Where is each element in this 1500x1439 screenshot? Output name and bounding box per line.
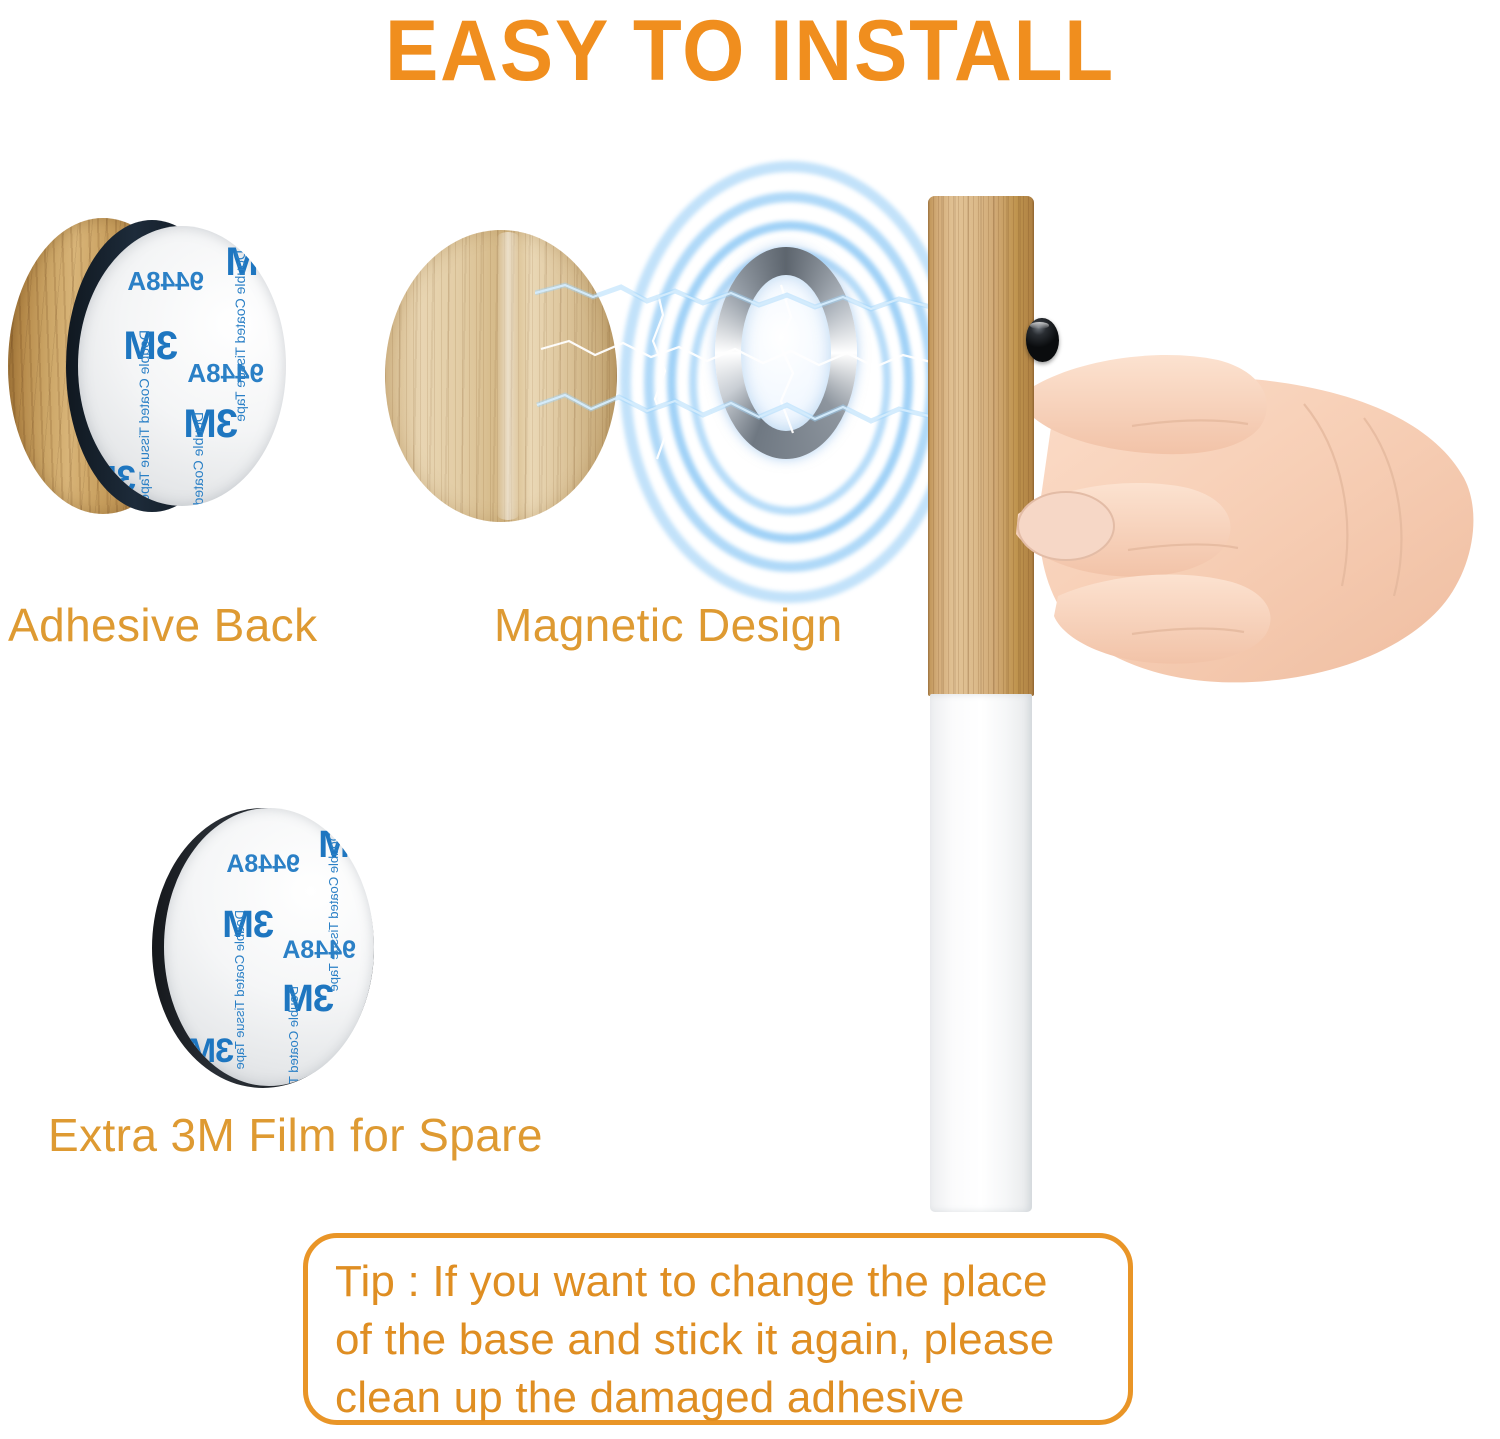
tip-line-3: clean up the damaged adhesive <box>335 1369 1125 1427</box>
tape-description-text: Double Coated Tissue Tape <box>190 412 206 506</box>
adhesive-liner-face: 3M Double Coated Tissue Tape 9448A 3M Do… <box>78 226 286 506</box>
feature-label-adhesive-back: Adhesive Back <box>8 598 317 652</box>
tape-code-text: 9448A <box>282 936 356 965</box>
page-title: EASY TO INSTALL <box>53 0 1448 104</box>
feature-label-extra-3m-film: Extra 3M Film for Spare <box>48 1108 543 1162</box>
feature-label-magnetic-design: Magnetic Design <box>494 598 843 652</box>
lamp-body <box>930 694 1032 1212</box>
3m-logo-text: 3M <box>88 458 136 500</box>
tape-description-text: Double Coated Tissue Tape <box>232 910 247 1069</box>
thumb-nail <box>1018 492 1114 560</box>
middle-finger <box>1054 574 1271 663</box>
tape-description-text: Double Coated Tissue Tape <box>326 832 341 991</box>
tip-line-2: of the base and stick it again, please <box>335 1311 1125 1369</box>
3m-liner-print: 3M Double Coated Tissue Tape 9448A 3M Do… <box>78 226 286 506</box>
tip-text: Tip : If you want to change the place of… <box>335 1253 1125 1427</box>
lightning-filaments <box>535 245 955 505</box>
adhesive-liner-face: 3M Double Coated Tissue Tape 9448A 3M Do… <box>164 808 374 1086</box>
3m-logo-text: 3M <box>189 1032 234 1071</box>
magnetic-design-illustration <box>385 185 945 575</box>
spare-3m-film-disc: 3M Double Coated Tissue Tape 9448A 3M Do… <box>152 808 374 1088</box>
tape-code-text: 9448A <box>187 358 264 389</box>
adhesive-back-disc: 3M Double Coated Tissue Tape 9448A 3M Do… <box>8 218 286 514</box>
hand-holding-light <box>1012 300 1482 700</box>
tape-description-text: Double Coated Tissue Tape <box>286 986 301 1086</box>
tape-description-text: Double Coated Tissue Tape <box>136 330 152 502</box>
3m-logo-text: 3M <box>223 904 274 947</box>
3m-liner-print: 3M Double Coated Tissue Tape 9448A 3M Do… <box>164 808 374 1086</box>
tape-code-text: 9448A <box>226 850 300 879</box>
tip-line-1: Tip : If you want to change the place <box>335 1253 1125 1311</box>
tape-description-text: Double Coated Tissue Tape <box>232 250 248 422</box>
tape-code-text: 9448A <box>127 266 204 297</box>
